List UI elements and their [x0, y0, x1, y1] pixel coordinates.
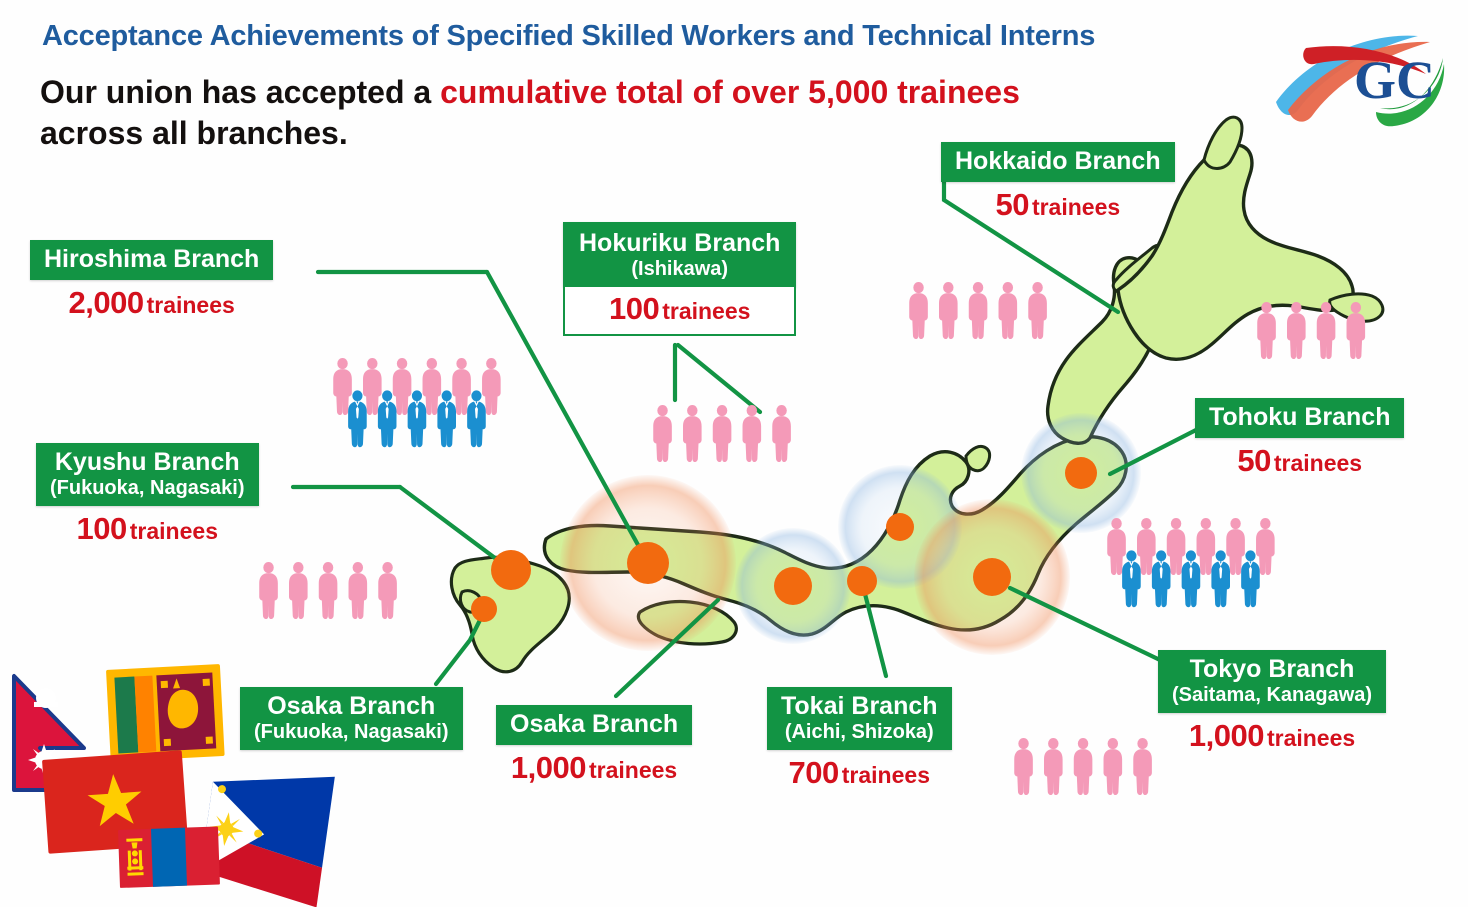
kyushu-people — [259, 562, 397, 619]
callout-hokkaido[interactable]: Hokkaido Branch 50trainees — [941, 142, 1175, 223]
callout-osaka-west[interactable]: Osaka Branch (Fukuoka, Nagasaki) — [240, 687, 463, 750]
count-unit: trainees — [842, 762, 930, 788]
callout-tohoku[interactable]: Tohoku Branch 50trainees — [1195, 398, 1404, 479]
count-number: 100 — [609, 291, 659, 326]
marker-hokuriku — [886, 513, 914, 541]
line-tohoku — [1110, 430, 1196, 474]
branch-count-kyushu: 100trainees — [36, 511, 259, 547]
branch-chip-tokai: Tokai Branch (Aichi, Shizoka) — [767, 687, 952, 750]
branch-name: Tokyo Branch — [1172, 655, 1372, 683]
branch-count-hokuriku: 100trainees — [575, 291, 784, 327]
count-unit: trainees — [147, 292, 235, 318]
branch-subtitle: (Fukuoka, Nagasaki) — [50, 477, 245, 499]
branch-name: Tohoku Branch — [1209, 403, 1390, 431]
marker-hiroshima — [627, 542, 669, 584]
branch-chip-osaka: Osaka Branch — [496, 705, 692, 745]
count-number: 1,000 — [511, 750, 586, 785]
marker-osaka — [774, 567, 812, 605]
branch-chip-kyushu: Kyushu Branch (Fukuoka, Nagasaki) — [36, 443, 259, 506]
branch-name: Hokuriku Branch — [579, 229, 780, 257]
tokyo-people — [1107, 518, 1274, 607]
branch-name: Kyushu Branch — [50, 448, 245, 476]
branch-count-osaka: 1,000trainees — [496, 750, 692, 786]
tokai-people — [1014, 738, 1152, 795]
flag-mongolia — [118, 827, 220, 888]
branch-count-tokyo: 1,000trainees — [1158, 718, 1386, 754]
marker-tokyo — [973, 558, 1011, 596]
branch-name: Hiroshima Branch — [44, 245, 259, 273]
count-number: 2,000 — [69, 285, 144, 320]
count-number: 100 — [77, 511, 127, 546]
callout-hiroshima[interactable]: Hiroshima Branch 2,000trainees — [30, 240, 273, 321]
branch-subtitle: (Fukuoka, Nagasaki) — [254, 721, 449, 743]
callout-hokuriku[interactable]: Hokuriku Branch (Ishikawa) 100trainees — [563, 222, 796, 336]
flag-vietnam — [42, 750, 188, 854]
marker-tohoku — [1065, 457, 1097, 489]
count-unit: trainees — [1267, 725, 1355, 751]
hiroshima-people — [333, 358, 500, 447]
line-osaka-west — [436, 612, 484, 684]
count-unit: trainees — [1274, 450, 1362, 476]
count-number: 50 — [995, 187, 1028, 222]
line-tokai — [864, 590, 886, 676]
count-unit: trainees — [130, 518, 218, 544]
hokuriku-people — [653, 405, 791, 462]
flag-philippines — [198, 760, 335, 907]
branch-chip-hokuriku: Hokuriku Branch (Ishikawa) — [563, 222, 796, 287]
line-osaka — [613, 588, 793, 700]
map-halos — [560, 413, 1141, 655]
count-number: 50 — [1237, 443, 1270, 478]
callout-kyushu[interactable]: Kyushu Branch (Fukuoka, Nagasaki) 100tra… — [36, 443, 259, 547]
marker-kyushu-south — [471, 596, 497, 622]
branch-chip-tokyo: Tokyo Branch (Saitama, Kanagawa) — [1158, 650, 1386, 713]
branch-chip-tohoku: Tohoku Branch — [1195, 398, 1404, 438]
count-number: 700 — [789, 755, 839, 790]
callout-tokai[interactable]: Tokai Branch (Aichi, Shizoka) 700trainee… — [767, 687, 952, 791]
line-tokyo — [1010, 588, 1160, 660]
branch-name: Hokkaido Branch — [955, 147, 1161, 175]
branch-chip-hokkaido: Hokkaido Branch — [941, 142, 1175, 182]
branch-count-tokai: 700trainees — [767, 755, 952, 791]
flag-sri-lanka — [106, 664, 225, 762]
line-hokuriku-b — [675, 400, 900, 527]
branch-subtitle: (Ishikawa) — [579, 258, 780, 280]
callout-osaka[interactable]: Osaka Branch 1,000trainees — [496, 705, 692, 786]
line-kyushu-b — [400, 487, 511, 570]
count-number: 1,000 — [1189, 718, 1264, 753]
branch-name: Osaka Branch — [254, 692, 449, 720]
tohoku-people — [1257, 302, 1365, 359]
count-unit: trainees — [589, 757, 677, 783]
count-unit: trainees — [662, 298, 750, 324]
hokkaido-people — [909, 282, 1047, 339]
line-hokuriku-d — [678, 345, 760, 412]
line-hokuriku-c — [752, 410, 900, 527]
branch-count-hokkaido: 50trainees — [941, 187, 1175, 223]
branch-chip-osaka-west: Osaka Branch (Fukuoka, Nagasaki) — [240, 687, 463, 750]
map-landmass — [451, 117, 1382, 672]
branch-count-tohoku: 50trainees — [1195, 443, 1404, 479]
branch-subtitle: (Saitama, Kanagawa) — [1172, 684, 1372, 706]
line-osaka-2 — [616, 600, 718, 696]
branch-subtitle: (Aichi, Shizoka) — [781, 721, 938, 743]
marker-tokai — [847, 566, 877, 596]
branch-count-hiroshima: 2,000trainees — [30, 285, 273, 321]
count-unit: trainees — [1032, 194, 1120, 220]
callout-tokyo[interactable]: Tokyo Branch (Saitama, Kanagawa) 1,000tr… — [1158, 650, 1386, 754]
marker-kyushu-north — [491, 550, 531, 590]
map-markers — [471, 457, 1097, 622]
flag-nepal — [14, 676, 84, 790]
branch-name: Tokai Branch — [781, 692, 938, 720]
branch-chip-hiroshima: Hiroshima Branch — [30, 240, 273, 280]
branch-countbox-hokuriku: 100trainees — [563, 287, 796, 336]
branch-name: Osaka Branch — [510, 710, 678, 738]
infographic-canvas: Acceptance Achievements of Specified Ski… — [0, 0, 1468, 907]
